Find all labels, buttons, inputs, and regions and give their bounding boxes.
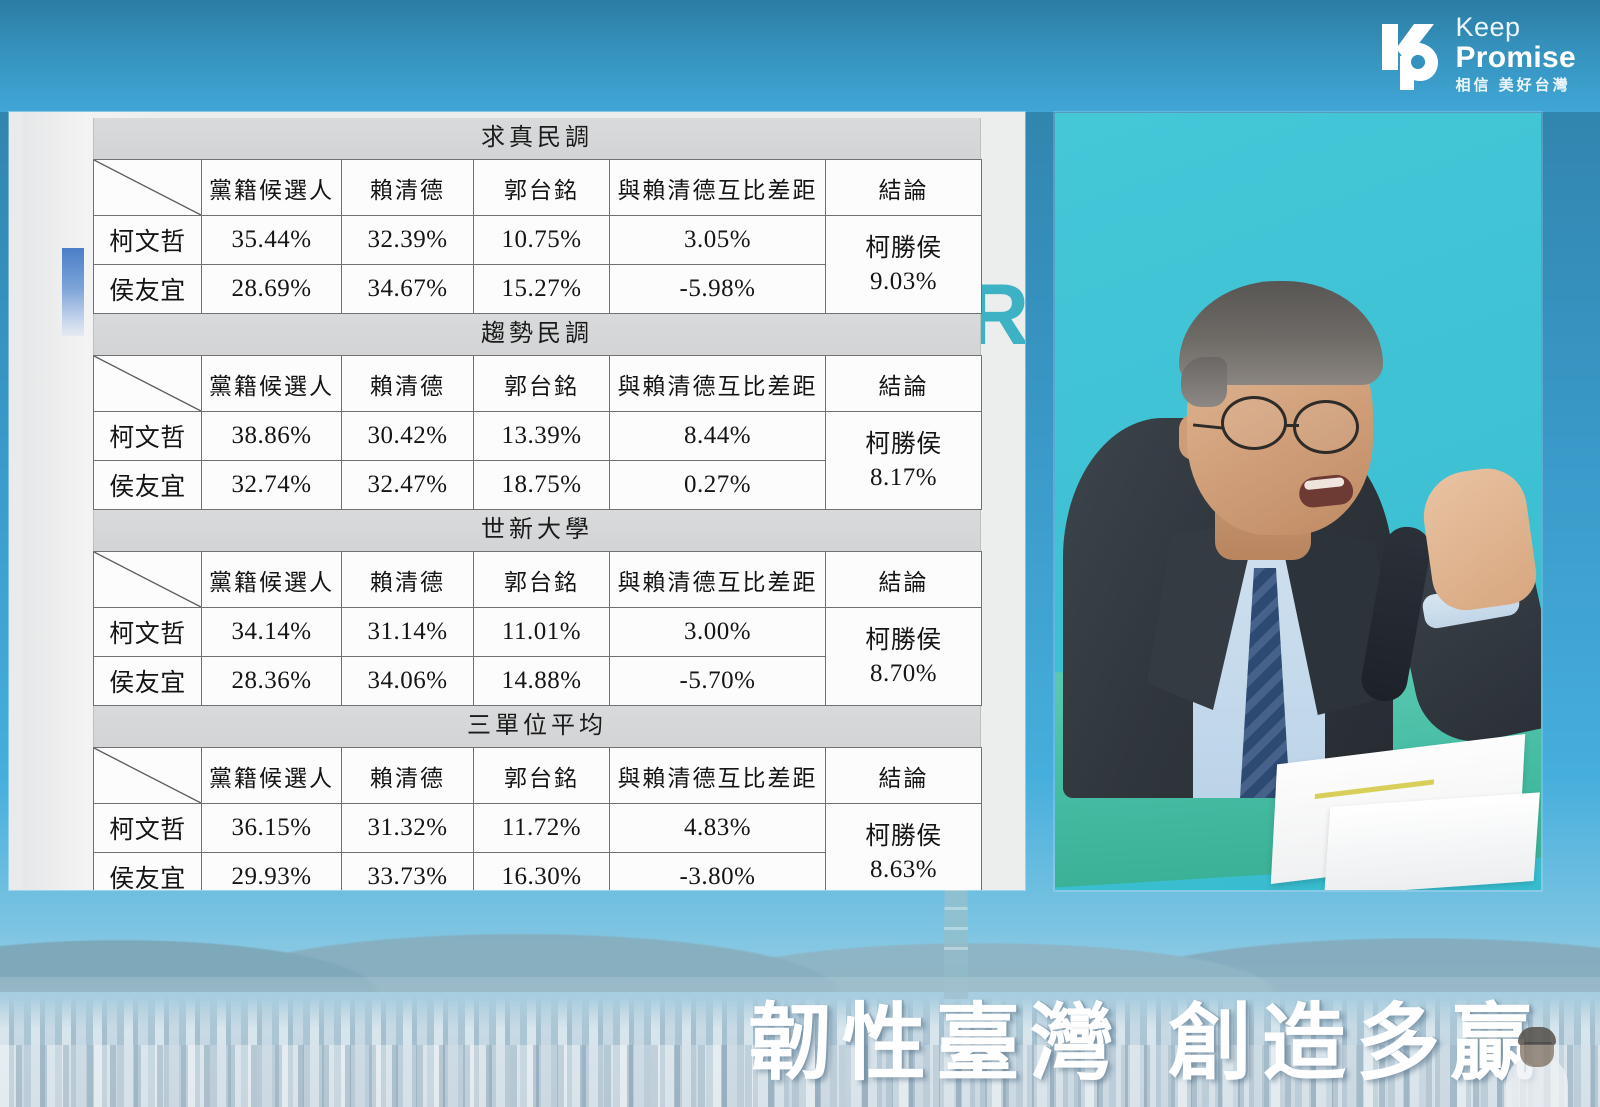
col-header-kuo: 郭台銘 bbox=[474, 160, 610, 216]
row-label: 柯文哲 bbox=[94, 608, 202, 657]
cell-gap: 0.27% bbox=[610, 461, 826, 510]
col-header-conclusion: 結論 bbox=[826, 552, 982, 608]
cell-gap: 4.83% bbox=[610, 804, 826, 853]
col-header-conclusion: 結論 bbox=[826, 356, 982, 412]
speaker-hair bbox=[1179, 281, 1383, 385]
cell-party: 28.36% bbox=[202, 657, 342, 706]
logo-keep-text: Keep bbox=[1456, 14, 1577, 41]
table-header-row: 黨籍候選人 賴清德 郭台銘 與賴清德互比差距 結論 bbox=[94, 552, 982, 608]
cell-lai: 31.14% bbox=[342, 608, 474, 657]
poll-table: 黨籍候選人 賴清德 郭台銘 與賴清德互比差距 結論 柯文哲 36.15% 31.… bbox=[93, 747, 982, 890]
mountain-range bbox=[0, 872, 1600, 992]
cell-conclusion: 柯勝侯 9.03% bbox=[826, 216, 982, 314]
row-label: 柯文哲 bbox=[94, 804, 202, 853]
shared-slide-panel[interactable]: R Keep Promise 求真民調 bbox=[9, 112, 1025, 890]
col-header-lai: 賴清德 bbox=[342, 748, 474, 804]
corner-cell bbox=[94, 356, 202, 412]
cell-lai: 34.67% bbox=[342, 265, 474, 314]
table-row: 柯文哲 38.86% 30.42% 13.39% 8.44% 柯勝侯 8.17% bbox=[94, 412, 982, 461]
corner-cell bbox=[94, 748, 202, 804]
cell-lai: 32.39% bbox=[342, 216, 474, 265]
top-banner bbox=[0, 0, 1600, 112]
cell-lai: 30.42% bbox=[342, 412, 474, 461]
conclusion-line-2: 8.63% bbox=[826, 853, 981, 886]
conclusion-line-1: 柯勝侯 bbox=[826, 428, 981, 461]
cell-party: 35.44% bbox=[202, 216, 342, 265]
table-row: 柯文哲 34.14% 31.14% 11.01% 3.00% 柯勝侯 8.70% bbox=[94, 608, 982, 657]
corner-person-glasses bbox=[1524, 1042, 1552, 1051]
col-header-gap: 與賴清德互比差距 bbox=[610, 552, 826, 608]
poll-table: 黨籍候選人 賴清德 郭台銘 與賴清德互比差距 結論 柯文哲 34.14% 31.… bbox=[93, 551, 982, 706]
cell-kuo: 16.30% bbox=[474, 853, 610, 891]
poll-table: 黨籍候選人 賴清德 郭台銘 與賴清德互比差距 結論 柯文哲 38.86% 30.… bbox=[93, 355, 982, 510]
conclusion-line-2: 9.03% bbox=[826, 265, 981, 298]
cell-lai: 31.32% bbox=[342, 804, 474, 853]
table-header-row: 黨籍候選人 賴清德 郭台銘 與賴清德互比差距 結論 bbox=[94, 160, 982, 216]
col-header-party: 黨籍候選人 bbox=[202, 748, 342, 804]
slide-scroll-thumb[interactable] bbox=[62, 248, 84, 336]
poll-section: 世新大學 黨籍候選人 賴清德 郭台銘 與賴清德互比差距 結論 bbox=[93, 510, 981, 706]
section-title: 三單位平均 bbox=[93, 706, 981, 747]
conclusion-line-2: 8.17% bbox=[826, 461, 981, 494]
col-header-kuo: 郭台銘 bbox=[474, 552, 610, 608]
cell-lai: 33.73% bbox=[342, 853, 474, 891]
poll-section: 求真民調 黨籍候選人 賴清德 郭台銘 與賴清德互比差距 結論 bbox=[93, 118, 981, 314]
broadcast-screen: Keep Promise 相信 美好台灣 R Keep Promise bbox=[0, 0, 1600, 1107]
col-header-lai: 賴清德 bbox=[342, 552, 474, 608]
col-header-gap: 與賴清德互比差距 bbox=[610, 356, 826, 412]
table-header-row: 黨籍候選人 賴清德 郭台銘 與賴清德互比差距 結論 bbox=[94, 356, 982, 412]
speaker-hand bbox=[1418, 463, 1540, 614]
conclusion-line-2: 8.70% bbox=[826, 657, 981, 690]
table-row: 柯文哲 35.44% 32.39% 10.75% 3.05% 柯勝侯 9.03% bbox=[94, 216, 982, 265]
cell-party: 38.86% bbox=[202, 412, 342, 461]
cell-kuo: 13.39% bbox=[474, 412, 610, 461]
slogan-char: 多 bbox=[1356, 1001, 1440, 1085]
row-label: 侯友宜 bbox=[94, 461, 202, 510]
speaker-video-panel[interactable] bbox=[1055, 113, 1541, 890]
poll-table: 黨籍候選人 賴清德 郭台銘 與賴清德互比差距 結論 柯文哲 35.44% 32.… bbox=[93, 159, 982, 314]
cell-party: 34.14% bbox=[202, 608, 342, 657]
bottom-slogan: 韌 性 臺 灣 創 造 多 贏 bbox=[748, 1001, 1534, 1085]
slide-canvas: R Keep Promise 求真民調 bbox=[23, 112, 1025, 890]
row-label: 侯友宜 bbox=[94, 657, 202, 706]
cell-kuo: 14.88% bbox=[474, 657, 610, 706]
col-header-lai: 賴清德 bbox=[342, 160, 474, 216]
col-header-party: 黨籍候選人 bbox=[202, 160, 342, 216]
poll-section: 三單位平均 黨籍候選人 賴清德 郭台銘 與賴清德互比差距 結論 bbox=[93, 706, 981, 890]
cell-kuo: 11.72% bbox=[474, 804, 610, 853]
poll-section: 趨勢民調 黨籍候選人 賴清德 郭台銘 與賴清德互比差距 結論 bbox=[93, 314, 981, 510]
cell-gap: 8.44% bbox=[610, 412, 826, 461]
table-row: 柯文哲 36.15% 31.32% 11.72% 4.83% 柯勝侯 8.63% bbox=[94, 804, 982, 853]
cell-kuo: 15.27% bbox=[474, 265, 610, 314]
cell-gap: 3.00% bbox=[610, 608, 826, 657]
cell-party: 28.69% bbox=[202, 265, 342, 314]
col-header-gap: 與賴清德互比差距 bbox=[610, 748, 826, 804]
row-label: 柯文哲 bbox=[94, 412, 202, 461]
desk-papers-secondary bbox=[1324, 792, 1540, 890]
eyeglass-lens-left bbox=[1221, 396, 1287, 450]
slogan-char: 創 bbox=[1168, 1001, 1252, 1085]
cell-kuo: 11.01% bbox=[474, 608, 610, 657]
keep-promise-logo: Keep Promise 相信 美好台灣 bbox=[1380, 14, 1577, 93]
col-header-conclusion: 結論 bbox=[826, 748, 982, 804]
cell-conclusion: 柯勝侯 8.70% bbox=[826, 608, 982, 706]
col-header-party: 黨籍候選人 bbox=[202, 552, 342, 608]
conclusion-line-1: 柯勝侯 bbox=[826, 624, 981, 657]
slogan-char: 性 bbox=[842, 1001, 926, 1085]
cell-gap: -3.80% bbox=[610, 853, 826, 891]
cell-lai: 34.06% bbox=[342, 657, 474, 706]
col-header-kuo: 郭台銘 bbox=[474, 356, 610, 412]
slogan-group-2: 創 造 多 贏 bbox=[1168, 1001, 1534, 1085]
slogan-group-1: 韌 性 臺 灣 bbox=[748, 1001, 1114, 1085]
conclusion-line-1: 柯勝侯 bbox=[826, 232, 981, 265]
cell-gap: 3.05% bbox=[610, 216, 826, 265]
eyeglass-lens-right bbox=[1293, 400, 1359, 454]
col-header-gap: 與賴清德互比差距 bbox=[610, 160, 826, 216]
corner-person-overlay bbox=[1482, 1012, 1592, 1107]
section-title: 世新大學 bbox=[93, 510, 981, 551]
cell-conclusion: 柯勝侯 8.17% bbox=[826, 412, 982, 510]
col-header-party: 黨籍候選人 bbox=[202, 356, 342, 412]
slogan-char: 臺 bbox=[936, 1001, 1020, 1085]
table-header-row: 黨籍候選人 賴清德 郭台銘 與賴清德互比差距 結論 bbox=[94, 748, 982, 804]
cell-gap: -5.98% bbox=[610, 265, 826, 314]
conclusion-line-1: 柯勝侯 bbox=[826, 820, 981, 853]
cell-party: 32.74% bbox=[202, 461, 342, 510]
logo-promise-text: Promise bbox=[1456, 43, 1577, 73]
kp-monogram-icon bbox=[1380, 18, 1442, 90]
col-header-kuo: 郭台銘 bbox=[474, 748, 610, 804]
row-label: 柯文哲 bbox=[94, 216, 202, 265]
row-label: 侯友宜 bbox=[94, 265, 202, 314]
col-header-lai: 賴清德 bbox=[342, 356, 474, 412]
section-title: 趨勢民調 bbox=[93, 314, 981, 355]
slogan-char: 造 bbox=[1262, 1001, 1346, 1085]
poll-tables: 求真民調 黨籍候選人 賴清德 郭台銘 與賴清德互比差距 結論 bbox=[93, 118, 981, 890]
corner-cell bbox=[94, 160, 202, 216]
cell-conclusion: 柯勝侯 8.63% bbox=[826, 804, 982, 891]
logo-subtitle: 相信 美好台灣 bbox=[1456, 78, 1577, 93]
eyeglass-bridge bbox=[1285, 424, 1299, 427]
cell-lai: 32.47% bbox=[342, 461, 474, 510]
row-label: 侯友宜 bbox=[94, 853, 202, 891]
corner-cell bbox=[94, 552, 202, 608]
slogan-char: 韌 bbox=[748, 1001, 832, 1085]
section-title: 求真民調 bbox=[93, 118, 981, 159]
cell-party: 36.15% bbox=[202, 804, 342, 853]
cell-kuo: 18.75% bbox=[474, 461, 610, 510]
cell-gap: -5.70% bbox=[610, 657, 826, 706]
cell-party: 29.93% bbox=[202, 853, 342, 891]
cell-kuo: 10.75% bbox=[474, 216, 610, 265]
slogan-char: 灣 bbox=[1030, 1001, 1114, 1085]
col-header-conclusion: 結論 bbox=[826, 160, 982, 216]
